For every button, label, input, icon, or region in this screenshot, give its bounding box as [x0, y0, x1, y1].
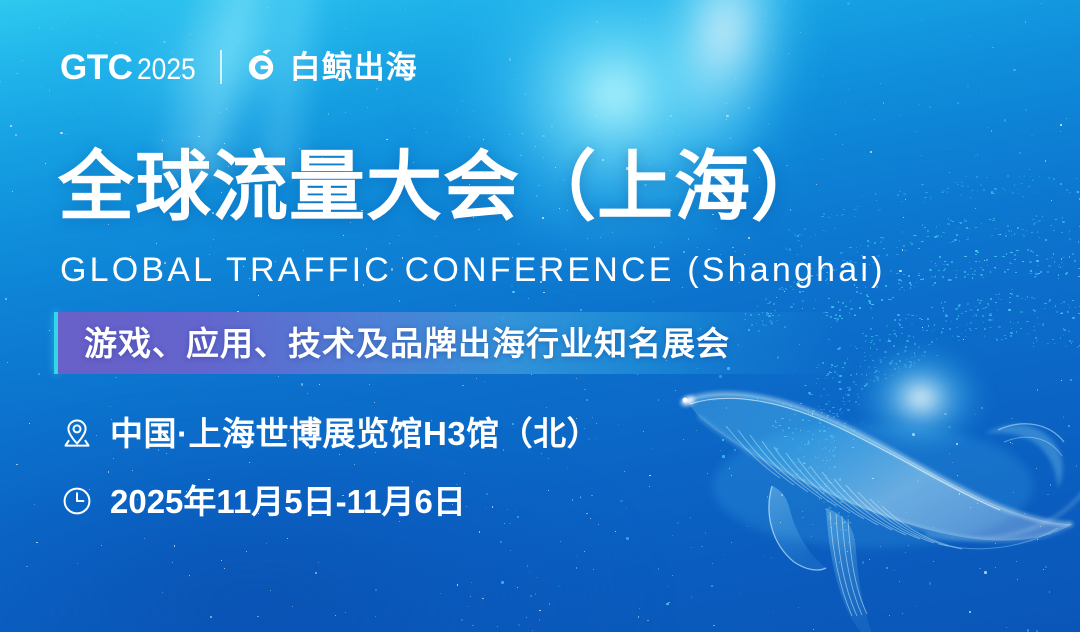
tagline-band: 游戏、应用、技术及品牌出海行业知名展会: [54, 312, 844, 374]
whale-circle-g-logo-icon: [242, 48, 280, 86]
vertical-divider: [220, 50, 222, 84]
venue-text: 中国·上海世博展览馆H3馆（北）: [110, 417, 600, 450]
map-pin-icon: [58, 414, 96, 452]
logo-lockup: GTC 2025 白鲸出海: [60, 46, 418, 88]
gtc-year: 2025: [137, 55, 196, 85]
page-title-en: GLOBAL TRAFFIC CONFERENCE (Shanghai): [60, 252, 886, 289]
page-title-cn: 全球流量大会（上海）: [58, 148, 828, 227]
clock-icon: [58, 482, 96, 520]
gtc-word: GTC: [60, 50, 132, 85]
venue-info-row: 中国·上海世博展览馆H3馆（北）: [58, 414, 600, 452]
brand-lockup: 白鲸出海: [242, 48, 418, 86]
tagline-text: 游戏、应用、技术及品牌出海行业知名展会: [84, 327, 730, 360]
date-text: 2025年11月5日-11月6日: [110, 485, 466, 518]
brand-name: 白鲸出海: [290, 52, 418, 83]
banner-content: GTC 2025 白鲸出海 全球流量大会（上海） GLOBAL TRAFFIC …: [0, 0, 1080, 632]
event-banner: GTC 2025 白鲸出海 全球流量大会（上海） GLOBAL TRAFFIC …: [0, 0, 1080, 632]
date-info-row: 2025年11月5日-11月6日: [58, 482, 466, 520]
gtc-wordmark: GTC 2025: [60, 50, 200, 85]
